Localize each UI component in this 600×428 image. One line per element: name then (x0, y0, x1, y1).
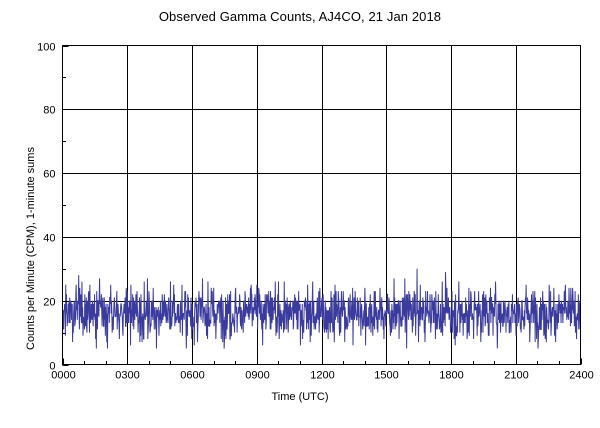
svg-text:2100: 2100 (504, 370, 528, 382)
svg-text:0: 0 (49, 361, 55, 373)
data-series-line (63, 269, 581, 349)
svg-text:1800: 1800 (439, 370, 463, 382)
svg-text:0600: 0600 (180, 370, 204, 382)
svg-text:1500: 1500 (374, 370, 398, 382)
plot-area: 000003000600090012001500180021002400 020… (0, 0, 600, 428)
svg-text:1200: 1200 (310, 370, 334, 382)
svg-text:100: 100 (37, 42, 55, 54)
svg-text:80: 80 (43, 105, 55, 117)
svg-text:0900: 0900 (245, 370, 269, 382)
svg-text:60: 60 (43, 169, 55, 181)
y-tick-labels: 020406080100 (37, 42, 55, 373)
chart-figure: Observed Gamma Counts, AJ4CO, 21 Jan 201… (0, 0, 600, 428)
svg-text:0300: 0300 (115, 370, 139, 382)
svg-text:2400: 2400 (569, 370, 593, 382)
svg-text:40: 40 (43, 233, 55, 245)
x-tick-labels: 000003000600090012001500180021002400 (51, 370, 593, 382)
svg-text:20: 20 (43, 297, 55, 309)
